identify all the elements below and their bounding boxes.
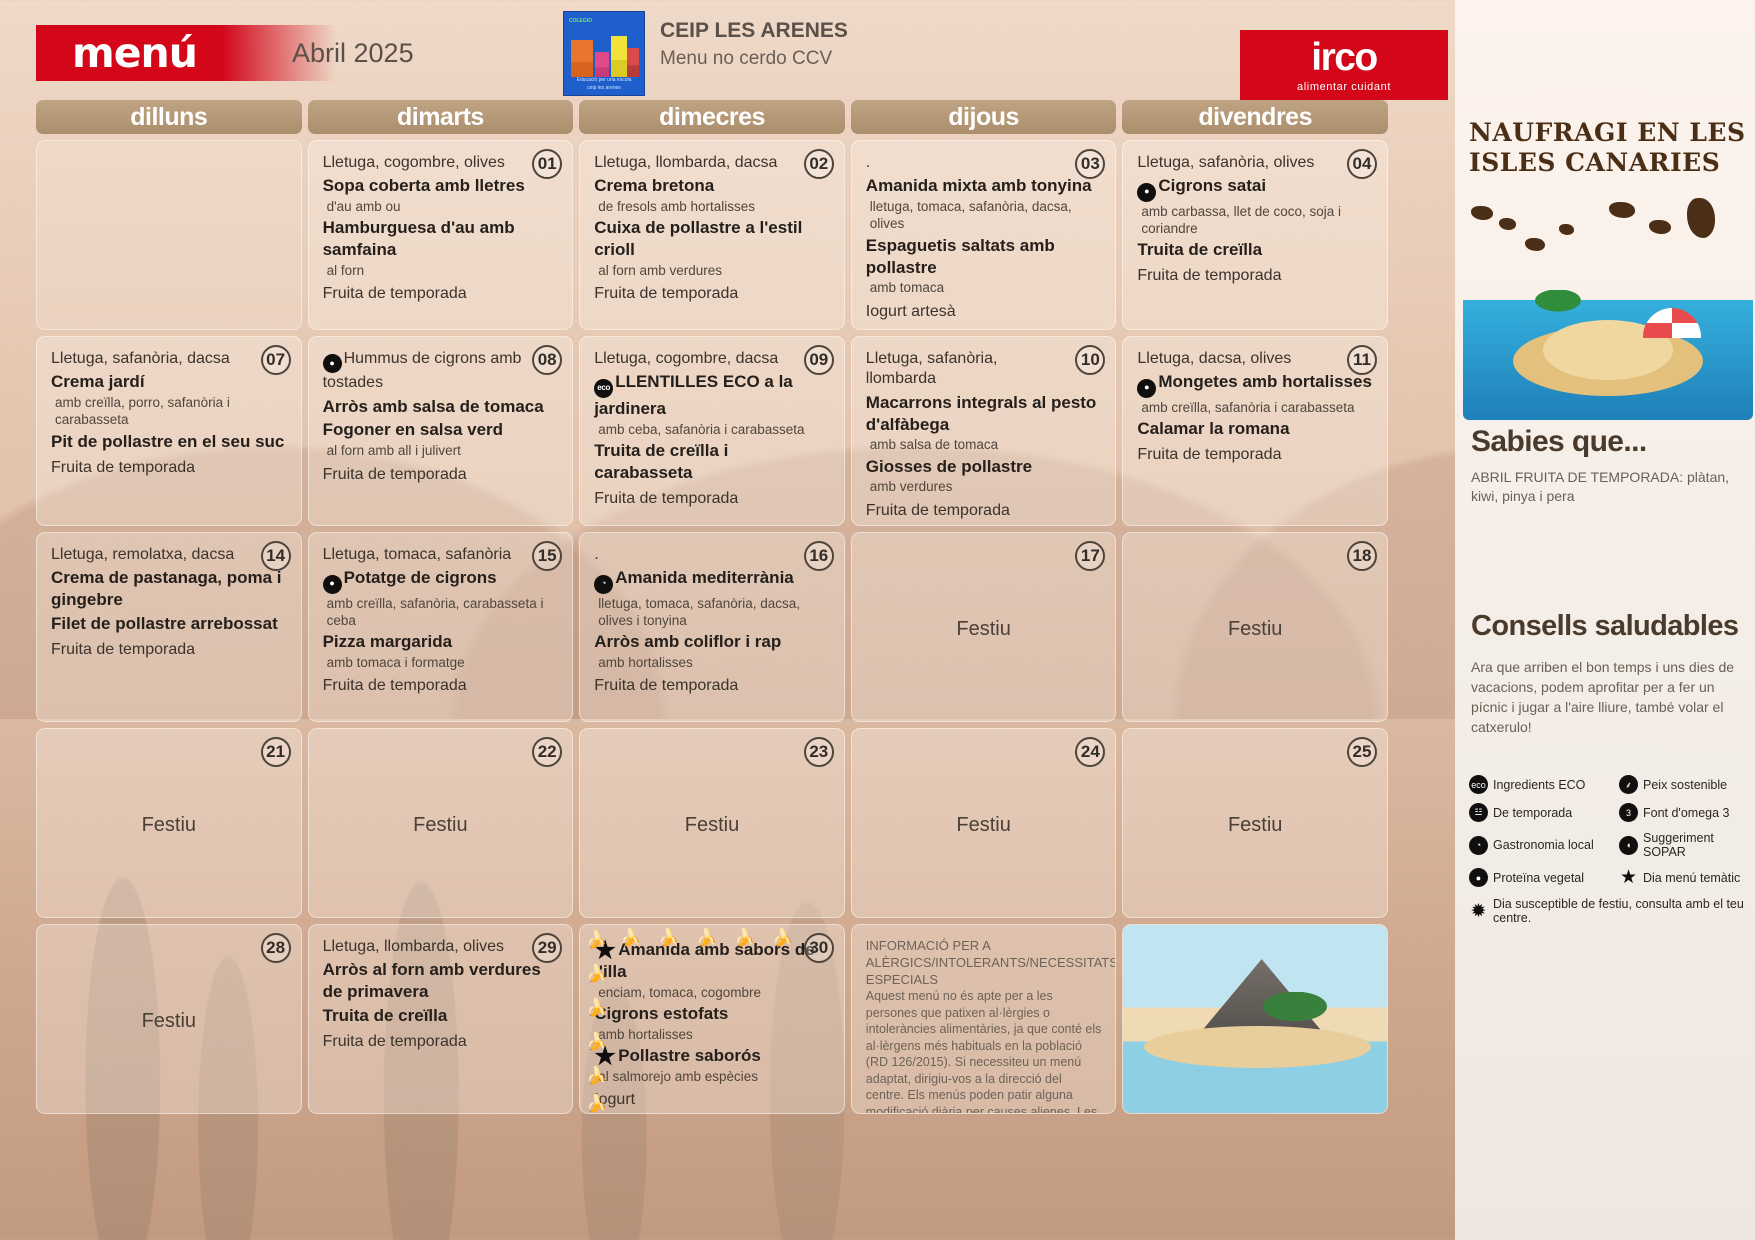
legend-grid: ecoIngredients ECO⸙Peix sostenible☳De te… bbox=[1469, 775, 1749, 887]
menu-starter: Lletuga, remolatxa, dacsa bbox=[51, 545, 287, 565]
legend-item-font-omega-3: 3Font d'omega 3 bbox=[1619, 803, 1749, 822]
menu-dish-description: al forn amb verdures bbox=[598, 262, 830, 279]
day-cell[interactable]: 09Lletuga, cogombre, dacsaecoLLENTILLES … bbox=[579, 336, 845, 526]
menu-dish-description: lletuga, tomaca, safanòria, dacsa, olive… bbox=[870, 198, 1102, 233]
day-cell[interactable]: 02Lletuga, llombarda, dacsaCrema bretona… bbox=[579, 140, 845, 330]
day-cell[interactable]: 30🍌🍌🍌🍌🍌🍌🍌🍌🍌🍌🍌★Amanida amb sabors de l'il… bbox=[579, 924, 845, 1114]
menu-text: Pollastre saborós bbox=[618, 1046, 761, 1065]
legend-item-peix-sostenible: ⸙Peix sostenible bbox=[1619, 775, 1749, 794]
day-cell[interactable]: 15Lletuga, tomaca, safanòria●Potatge de … bbox=[308, 532, 574, 722]
banana-decoration-icon: 🍌 bbox=[586, 1033, 607, 1050]
eco-icon: eco bbox=[594, 379, 613, 398]
menu-dish-description: amb hortalisses bbox=[598, 654, 830, 671]
menu-text: Lletuga, safanòria, llombarda bbox=[866, 350, 998, 387]
menu-dish-description: amb ceba, safanòria i carabasseta bbox=[598, 421, 830, 438]
day-cell[interactable]: 22Festiu bbox=[308, 728, 574, 918]
menu-dessert: Fruita de temporada bbox=[323, 1032, 559, 1052]
menu-dessert: Fruita de temporada bbox=[323, 284, 559, 304]
banana-decoration-icon: 🍌 bbox=[658, 929, 679, 946]
banana-decoration-icon: 🍌 bbox=[586, 1095, 607, 1112]
side-panel: NAUFRAGI EN LES ISLES CANARIES Sabies qu… bbox=[1455, 0, 1755, 1240]
proteina-vegetal-icon: ● bbox=[323, 575, 342, 594]
page-header: menú Abril 2025 COLEGIO Educació per una… bbox=[0, 0, 1470, 100]
menu-text: Fruita de temporada bbox=[51, 459, 195, 476]
weekday-header-divendres: divendres bbox=[1122, 100, 1388, 134]
menu-dessert: Fruita de temporada bbox=[323, 465, 559, 485]
weekday-header-dimecres: dimecres bbox=[579, 100, 845, 134]
menu-dish-description: amb verdures bbox=[870, 478, 1102, 495]
menu-dish-description: amb creïlla, safanòria, carabasseta i ce… bbox=[327, 595, 559, 630]
menu-dish: ●Potatge de cigrons bbox=[323, 567, 559, 593]
menu-dish: Espaguetis saltats amb pollastre bbox=[866, 235, 1102, 279]
menu-dessert: Iogurt bbox=[594, 1090, 830, 1110]
menu-text: Pit de pollastre en el seu suc bbox=[51, 432, 284, 451]
day-cell[interactable]: 04Lletuga, safanòria, olives●Cigrons sat… bbox=[1122, 140, 1388, 330]
menu-dish: Arròs amb coliflor i rap bbox=[594, 631, 830, 653]
menu-text: Lletuga, safanòria, dacsa bbox=[51, 350, 230, 367]
menu-starter: . bbox=[866, 153, 1102, 173]
day-number: 30 bbox=[804, 933, 834, 963]
font-omega-3-icon: 3 bbox=[1619, 803, 1638, 822]
menu-text: Arròs al forn amb verdures de primavera bbox=[323, 960, 541, 1001]
menu-dish: Truita de creïlla bbox=[1137, 239, 1373, 261]
menu-dish: Arròs al forn amb verdures de primavera bbox=[323, 959, 559, 1003]
menu-text: Cigrons satai bbox=[1158, 176, 1266, 195]
asterisc-icon: ✹ bbox=[1469, 902, 1488, 921]
de-temporada-icon: ☳ bbox=[1469, 803, 1488, 822]
menu-dish: Truita de creïlla i carabasseta bbox=[594, 440, 830, 484]
menu-starter: Lletuga, llombarda, olives bbox=[323, 937, 559, 957]
menu-text: Truita de creïlla bbox=[323, 1006, 448, 1025]
menu-title-badge: menú bbox=[36, 25, 336, 81]
healthy-tips-text: Ara que arriben el bon temps i uns dies … bbox=[1471, 658, 1737, 738]
menu-text: Fruita de temporada bbox=[594, 490, 738, 507]
menu-text: Fruita de temporada bbox=[51, 641, 195, 658]
menu-text: Crema jardí bbox=[51, 372, 145, 391]
banana-decoration-icon: 🍌 bbox=[734, 929, 755, 946]
menu-text: Crema bretona bbox=[594, 176, 714, 195]
legend: ecoIngredients ECO⸙Peix sostenible☳De te… bbox=[1469, 775, 1749, 925]
menu-text: amb tomaca i formatge bbox=[327, 655, 465, 670]
proteina-vegetal-icon: ● bbox=[323, 354, 342, 373]
menu-dish: Crema jardí bbox=[51, 371, 287, 393]
menu-dish: Cigrons estofats bbox=[594, 1003, 830, 1025]
menu-text: Mongetes amb hortalisses bbox=[1158, 372, 1372, 391]
menu-dessert: Fruita de temporada bbox=[323, 676, 559, 696]
menu-text: amb ceba, safanòria i carabasseta bbox=[598, 422, 804, 437]
banana-decoration-icon: 🍌 bbox=[696, 929, 717, 946]
day-cell[interactable]: 17Festiu bbox=[851, 532, 1117, 722]
menu-starter: Lletuga, tomaca, safanòria bbox=[323, 545, 559, 565]
menu-text: Pizza margarida bbox=[323, 632, 452, 651]
menu-text: LLENTILLES ECO a la jardinera bbox=[594, 372, 793, 418]
menu-text: amb creïlla, safanòria i carabasseta bbox=[1141, 400, 1354, 415]
day-cell[interactable]: 08●Hummus de cigrons amb tostadesArròs a… bbox=[308, 336, 574, 526]
day-cell[interactable]: 07Lletuga, safanòria, dacsaCrema jardíam… bbox=[36, 336, 302, 526]
holiday-label: Festiu bbox=[413, 814, 467, 837]
day-number: 02 bbox=[804, 149, 834, 179]
school-name: CEIP LES ARENES bbox=[660, 19, 848, 43]
banana-decoration-icon: 🍌 bbox=[772, 929, 793, 946]
menu-text: Potatge de cigrons bbox=[344, 568, 497, 587]
menu-text: amb tomaca bbox=[870, 280, 944, 295]
weekday-header-row: dillunsdimartsdimecresdijousdivendres bbox=[36, 100, 1388, 134]
menu-dish-description: amb creïlla, porro, safanòria i carabass… bbox=[55, 394, 287, 429]
theme-title-line2: ISLES CANARIES bbox=[1469, 148, 1749, 178]
menu-text: al forn amb verdures bbox=[598, 263, 722, 278]
week-row: 01Lletuga, cogombre, olivesSopa coberta … bbox=[36, 140, 1388, 330]
day-number: 09 bbox=[804, 345, 834, 375]
gastronomia-local-icon: ◔ bbox=[594, 575, 613, 594]
menu-starter: Lletuga, dacsa, olives bbox=[1137, 349, 1373, 369]
legend-footer-item: ✹ Dia susceptible de festiu, consulta am… bbox=[1469, 897, 1749, 925]
day-cell[interactable]: 21Festiu bbox=[36, 728, 302, 918]
day-number: 17 bbox=[1075, 541, 1105, 571]
legend-footer-label: Dia susceptible de festiu, consulta amb … bbox=[1493, 897, 1749, 925]
week-row: 14Lletuga, remolatxa, dacsaCrema de past… bbox=[36, 532, 1388, 722]
day-number: 18 bbox=[1347, 541, 1377, 571]
allergen-body: Aquest menú no és apte per a les persone… bbox=[866, 988, 1102, 1114]
menu-dish-description: de fresols amb hortalisses bbox=[598, 198, 830, 215]
menu-text: al salmorejo amb espècies bbox=[598, 1069, 758, 1084]
menu-text: Lletuga, llombarda, olives bbox=[323, 938, 504, 955]
menu-text: amb creïlla, porro, safanòria i carabass… bbox=[55, 395, 230, 427]
day-number: 11 bbox=[1347, 345, 1377, 375]
menu-text: Lletuga, dacsa, olives bbox=[1137, 350, 1291, 367]
menu-dessert: Fruita de temporada bbox=[594, 676, 830, 696]
did-you-know-title: Sabies que... bbox=[1471, 425, 1751, 459]
menu-text: Fruita de temporada bbox=[1137, 446, 1281, 463]
menu-text: Fruita de temporada bbox=[594, 677, 738, 694]
menu-dessert: Fruita de temporada bbox=[51, 458, 287, 478]
legend-item-suggeriment-sopar: ◖Suggeriment SOPAR bbox=[1619, 831, 1749, 859]
menu-text: Sopa coberta amb lletres bbox=[323, 176, 525, 195]
palm-tree-icon bbox=[1527, 290, 1589, 342]
day-cell[interactable]: 16.◔Amanida mediterrànialletuga, tomaca,… bbox=[579, 532, 845, 722]
canary-islands-illustration bbox=[1463, 190, 1753, 420]
menu-text: Lletuga, cogombre, olives bbox=[323, 154, 505, 171]
menu-dish: ecoLLENTILLES ECO a la jardinera bbox=[594, 371, 830, 419]
menu-dish-description: lletuga, tomaca, safanòria, dacsa, olive… bbox=[598, 595, 830, 630]
school-logo-caption-1: Educació per una escola bbox=[564, 77, 644, 85]
menu-text: amb verdures bbox=[870, 479, 953, 494]
day-number: 01 bbox=[532, 149, 562, 179]
legend-item-label: De temporada bbox=[1493, 806, 1572, 820]
menu-text: Lletuga, safanòria, olives bbox=[1137, 154, 1314, 171]
menu-text: Fruita de temporada bbox=[866, 502, 1010, 519]
menu-starter: Lletuga, llombarda, dacsa bbox=[594, 153, 830, 173]
allergen-title: INFORMACIÓ PER A ALÈRGICS/INTOLERANTS/NE… bbox=[866, 937, 1102, 988]
menu-text: Fogoner en salsa verd bbox=[323, 420, 503, 439]
proteina-vegetal-icon: ● bbox=[1137, 183, 1156, 202]
day-cell[interactable]: 11Lletuga, dacsa, olives●Mongetes amb ho… bbox=[1122, 336, 1388, 526]
menu-dish: ★Pollastre saborós bbox=[594, 1045, 830, 1067]
day-number: 25 bbox=[1347, 737, 1377, 767]
day-cell[interactable]: 03.Amanida mixta amb tonyinalletuga, tom… bbox=[851, 140, 1117, 330]
menu-calendar: dillunsdimartsdimecresdijousdivendres 01… bbox=[36, 100, 1388, 1114]
menu-dish-description: enciam, tomaca, cogombre bbox=[598, 984, 830, 1001]
irco-logo: irco alimentar cuidant bbox=[1240, 30, 1448, 100]
weekday-header-dimarts: dimarts bbox=[308, 100, 574, 134]
day-cell[interactable]: 01Lletuga, cogombre, olivesSopa coberta … bbox=[308, 140, 574, 330]
theme-title-line1: NAUFRAGI EN LES bbox=[1469, 118, 1749, 148]
menu-dish-description: al salmorejo amb espècies bbox=[598, 1068, 830, 1085]
week-row: 28Festiu29Lletuga, llombarda, olivesArrò… bbox=[36, 924, 1388, 1114]
irco-tagline: alimentar cuidant bbox=[1297, 81, 1391, 93]
holiday-label: Festiu bbox=[685, 814, 739, 837]
school-logo-caption-2: ceip les arenes bbox=[564, 85, 644, 93]
menu-starter: Lletuga, cogombre, olives bbox=[323, 153, 559, 173]
menu-text: Filet de pollastre arrebossat bbox=[51, 614, 278, 633]
menu-text: Lletuga, llombarda, dacsa bbox=[594, 154, 777, 171]
menu-dish: ●Cigrons satai bbox=[1137, 175, 1373, 201]
weekday-header-dijous: dijous bbox=[851, 100, 1117, 134]
menu-text: Truita de creïlla bbox=[1137, 240, 1262, 259]
day-number: 07 bbox=[261, 345, 291, 375]
banana-decoration-icon: 🍌 bbox=[586, 965, 607, 982]
menu-dish: Amanida mixta amb tonyina bbox=[866, 175, 1102, 197]
menu-text: de fresols amb hortalisses bbox=[598, 199, 755, 214]
menu-dessert: Fruita de temporada bbox=[594, 489, 830, 509]
gastronomia-local-icon: ◔ bbox=[1469, 836, 1488, 855]
menu-text: amb salsa de tomaca bbox=[870, 437, 998, 452]
day-number: 29 bbox=[532, 933, 562, 963]
day-cell[interactable]: 28Festiu bbox=[36, 924, 302, 1114]
day-cell[interactable]: 18Festiu bbox=[1122, 532, 1388, 722]
holiday-label: Festiu bbox=[142, 814, 196, 837]
menu-dish: Cuixa de pollastre a l'estil crioll bbox=[594, 217, 830, 261]
menu-dish: Hamburguesa d'au amb samfaina bbox=[323, 217, 559, 261]
day-number: 23 bbox=[804, 737, 834, 767]
menu-dessert: Iogurt artesà bbox=[866, 302, 1102, 322]
eco-icon: eco bbox=[1469, 775, 1488, 794]
suggeriment-sopar-icon: ◖ bbox=[1619, 836, 1638, 855]
menu-text: Lletuga, remolatxa, dacsa bbox=[51, 546, 234, 563]
day-cell[interactable]: INFORMACIÓ PER A ALÈRGICS/INTOLERANTS/NE… bbox=[851, 924, 1117, 1114]
menu-text: Fruita de temporada bbox=[323, 1033, 467, 1050]
legend-item-dia-menu-tematic: ★Dia menú temàtic bbox=[1619, 868, 1749, 887]
legend-item-de-temporada: ☳De temporada bbox=[1469, 803, 1619, 822]
peix-sostenible-icon: ⸙ bbox=[1619, 775, 1638, 794]
day-cell[interactable]: 10Lletuga, safanòria, llombardaMacarrons… bbox=[851, 336, 1117, 526]
healthy-tips-title: Consells saludables bbox=[1471, 610, 1751, 643]
day-number: 24 bbox=[1075, 737, 1105, 767]
day-number: 15 bbox=[532, 541, 562, 571]
menu-text: Amanida mediterrània bbox=[615, 568, 794, 587]
menu-dish: Macarrons integrals al pesto d'alfàbega bbox=[866, 392, 1102, 436]
menu-text: Cigrons estofats bbox=[594, 1004, 728, 1023]
holiday-label: Festiu bbox=[1228, 814, 1282, 837]
theme-title: NAUFRAGI EN LES ISLES CANARIES bbox=[1469, 118, 1749, 177]
weekday-header-dilluns: dilluns bbox=[36, 100, 302, 134]
legend-item-label: Gastronomia local bbox=[1493, 838, 1594, 852]
menu-dessert: Fruita de temporada bbox=[594, 284, 830, 304]
menu-dish: ◔Amanida mediterrània bbox=[594, 567, 830, 593]
menu-dish: Sopa coberta amb lletres bbox=[323, 175, 559, 197]
week-row: 07Lletuga, safanòria, dacsaCrema jardíam… bbox=[36, 336, 1388, 526]
holiday-label: Festiu bbox=[956, 618, 1010, 641]
menu-starter: Lletuga, safanòria, dacsa bbox=[51, 349, 287, 369]
menu-text: Hummus de cigrons amb tostades bbox=[323, 350, 522, 391]
menu-dish: Filet de pollastre arrebossat bbox=[51, 613, 287, 635]
menu-dish: Calamar la romana bbox=[1137, 418, 1373, 440]
banana-decoration-icon: 🍌 bbox=[586, 999, 607, 1016]
menu-dish: Giosses de pollastre bbox=[866, 456, 1102, 478]
menu-text: d'au amb ou bbox=[327, 199, 401, 214]
day-number: 08 bbox=[532, 345, 562, 375]
banana-decoration-icon: 🍌 bbox=[620, 929, 641, 946]
menu-text: amb hortalisses bbox=[598, 1027, 693, 1042]
week-row: 21Festiu22Festiu23Festiu24Festiu25Festiu bbox=[36, 728, 1388, 918]
menu-dish-description: amb tomaca i formatge bbox=[327, 654, 559, 671]
menu-text: al forn bbox=[327, 263, 365, 278]
legend-item-label: Dia menú temàtic bbox=[1643, 871, 1740, 885]
day-number: 14 bbox=[261, 541, 291, 571]
legend-item-eco: ecoIngredients ECO bbox=[1469, 775, 1619, 794]
weeks-container: 01Lletuga, cogombre, olivesSopa coberta … bbox=[36, 140, 1388, 1114]
holiday-label: Festiu bbox=[142, 1010, 196, 1033]
menu-text: Fruita de temporada bbox=[323, 677, 467, 694]
menu-text: Arròs amb coliflor i rap bbox=[594, 632, 781, 651]
day-number: 28 bbox=[261, 933, 291, 963]
menu-dish-description: amb hortalisses bbox=[598, 1026, 830, 1043]
legend-item-proteina-vegetal: ●Proteïna vegetal bbox=[1469, 868, 1619, 887]
holiday-label: Festiu bbox=[956, 814, 1010, 837]
dia-menu-tematic-icon: ★ bbox=[1619, 868, 1638, 887]
menu-text: Arròs amb salsa de tomaca bbox=[323, 397, 544, 416]
legend-item-label: Proteïna vegetal bbox=[1493, 871, 1584, 885]
menu-text: Fruita de temporada bbox=[323, 466, 467, 483]
school-logo-icon: COLEGIO Educació per una escola ceip les… bbox=[563, 11, 645, 96]
day-number: 16 bbox=[804, 541, 834, 571]
day-cell[interactable]: 25Festiu bbox=[1122, 728, 1388, 918]
menu-dish: Truita de creïlla bbox=[323, 1005, 559, 1027]
menu-text: lletuga, tomaca, safanòria, dacsa, olive… bbox=[598, 596, 800, 628]
menu-text: Crema de pastanaga, poma i gingebre bbox=[51, 568, 282, 609]
menu-text: Giosses de pollastre bbox=[866, 457, 1032, 476]
menu-dish-description: d'au amb ou bbox=[327, 198, 559, 215]
tropical-island-illustration bbox=[1123, 925, 1387, 1113]
proteina-vegetal-icon: ● bbox=[1137, 379, 1156, 398]
menu-starter: ●Hummus de cigrons amb tostades bbox=[323, 349, 559, 394]
day-cell[interactable]: 29Lletuga, llombarda, olivesArròs al for… bbox=[308, 924, 574, 1114]
menu-starter: Lletuga, cogombre, dacsa bbox=[594, 349, 830, 369]
menu-dish-description: al forn amb all i julivert bbox=[327, 442, 559, 459]
menu-text: Fruita de temporada bbox=[323, 285, 467, 302]
menu-text: Espaguetis saltats amb pollastre bbox=[866, 236, 1055, 277]
day-number: 04 bbox=[1347, 149, 1377, 179]
menu-text: Iogurt artesà bbox=[866, 303, 956, 320]
menu-dish: Arròs amb salsa de tomaca bbox=[323, 396, 559, 418]
day-number: 22 bbox=[532, 737, 562, 767]
day-cell[interactable]: 24Festiu bbox=[851, 728, 1117, 918]
menu-text: Calamar la romana bbox=[1137, 419, 1289, 438]
menu-period: Abril 2025 bbox=[292, 38, 414, 69]
irco-brand: irco bbox=[1311, 38, 1377, 77]
banana-decoration-icon: 🍌 bbox=[586, 931, 607, 948]
day-cell[interactable]: 14Lletuga, remolatxa, dacsaCrema de past… bbox=[36, 532, 302, 722]
proteina-vegetal-icon: ● bbox=[1469, 868, 1488, 887]
menu-dish-description: amb carbassa, llet de coco, soja i coria… bbox=[1141, 203, 1373, 238]
menu-text: Fruita de temporada bbox=[1137, 267, 1281, 284]
menu-text: al forn amb all i julivert bbox=[327, 443, 461, 458]
day-cell[interactable]: 23Festiu bbox=[579, 728, 845, 918]
holiday-label: Festiu bbox=[1228, 618, 1282, 641]
menu-text: Truita de creïlla i carabasseta bbox=[594, 441, 728, 482]
menu-text: enciam, tomaca, cogombre bbox=[598, 985, 761, 1000]
menu-dish-description: al forn bbox=[327, 262, 559, 279]
legend-item-label: Peix sostenible bbox=[1643, 778, 1727, 792]
menu-text: Cuixa de pollastre a l'estil crioll bbox=[594, 218, 802, 259]
menu-dish-description: amb creïlla, safanòria i carabasseta bbox=[1141, 399, 1373, 416]
menu-starter: Lletuga, safanòria, olives bbox=[1137, 153, 1373, 173]
school-subtitle: Menu no cerdo CCV bbox=[660, 48, 832, 70]
legend-item-label: Suggeriment SOPAR bbox=[1643, 831, 1749, 859]
menu-title: menú bbox=[36, 29, 197, 77]
menu-text: lletuga, tomaca, safanòria, dacsa, olive… bbox=[870, 199, 1072, 231]
menu-text: Fruita de temporada bbox=[594, 285, 738, 302]
legend-item-label: Ingredients ECO bbox=[1493, 778, 1585, 792]
menu-dish-description: amb salsa de tomaca bbox=[870, 436, 1102, 453]
menu-dish: Crema bretona bbox=[594, 175, 830, 197]
menu-text: . bbox=[594, 546, 598, 563]
menu-dessert: Fruita de temporada bbox=[1137, 266, 1373, 286]
islands-shapes-icon bbox=[1463, 190, 1753, 310]
palm-tree-icon bbox=[1250, 992, 1340, 1072]
menu-text: amb carbassa, llet de coco, soja i coria… bbox=[1141, 204, 1341, 236]
menu-text: . bbox=[866, 154, 870, 171]
day-cell[interactable] bbox=[1122, 924, 1388, 1114]
menu-starter: Lletuga, safanòria, llombarda bbox=[866, 349, 1102, 390]
menu-dessert: Fruita de temporada bbox=[866, 501, 1102, 521]
seasonal-fruit-note: ABRIL FRUITA DE TEMPORADA: plàtan, kiwi,… bbox=[1471, 468, 1733, 507]
menu-dish: Crema de pastanaga, poma i gingebre bbox=[51, 567, 287, 611]
menu-dish: Pizza margarida bbox=[323, 631, 559, 653]
menu-text: Macarrons integrals al pesto d'alfàbega bbox=[866, 393, 1097, 434]
menu-text: amb hortalisses bbox=[598, 655, 693, 670]
menu-text: Hamburguesa d'au amb samfaina bbox=[323, 218, 515, 259]
menu-dish: Fogoner en salsa verd bbox=[323, 419, 559, 441]
day-number: 21 bbox=[261, 737, 291, 767]
menu-text: Lletuga, cogombre, dacsa bbox=[594, 350, 778, 367]
menu-starter: . bbox=[594, 545, 830, 565]
menu-dish: Pit de pollastre en el seu suc bbox=[51, 431, 287, 453]
menu-dessert: Fruita de temporada bbox=[51, 640, 287, 660]
menu-text: Amanida mixta amb tonyina bbox=[866, 176, 1092, 195]
legend-item-gastronomia-local: ◔Gastronomia local bbox=[1469, 831, 1619, 859]
banana-decoration-icon: 🍌 bbox=[586, 1067, 607, 1084]
menu-dish-description: amb tomaca bbox=[870, 279, 1102, 296]
menu-text: amb creïlla, safanòria, carabasseta i ce… bbox=[327, 596, 544, 628]
menu-dish: ●Mongetes amb hortalisses bbox=[1137, 371, 1373, 397]
menu-text: Lletuga, tomaca, safanòria bbox=[323, 546, 512, 563]
day-cell[interactable] bbox=[36, 140, 302, 330]
legend-item-label: Font d'omega 3 bbox=[1643, 806, 1729, 820]
menu-dessert: Fruita de temporada bbox=[1137, 445, 1373, 465]
